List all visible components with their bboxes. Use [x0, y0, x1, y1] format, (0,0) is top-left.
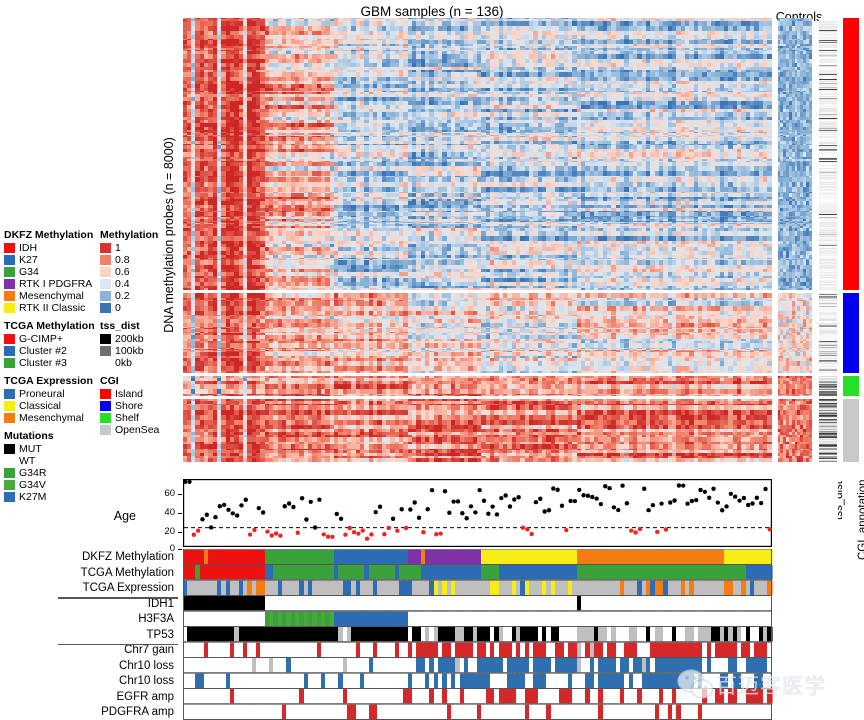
legend-label: Shore: [115, 400, 143, 412]
legend-title-tss-dist: tss_dist: [100, 320, 180, 332]
legend-column-right: Methylation10.80.60.40.20tss_dist200kb10…: [100, 229, 180, 436]
age-axis-tickmark: [178, 549, 182, 550]
age-axis-tick: 40: [155, 507, 175, 518]
methylation-heatmap-gbm[interactable]: [183, 18, 772, 462]
legend-title-cgi: CGI: [100, 375, 180, 387]
legend-item-tcga-methylation-0[interactable]: G-CIMP+: [4, 333, 96, 345]
legend-swatch-icon: [100, 346, 111, 356]
legend-label: Island: [115, 388, 143, 400]
legend-item-mutations-1[interactable]: WT: [4, 455, 96, 467]
legend-item-dkfz-methylation-2[interactable]: G34: [4, 266, 96, 278]
legend-label: MUT: [19, 443, 42, 455]
legend-item-tcga-expression-1[interactable]: Classical: [4, 400, 96, 412]
legend-label: Cluster #3: [19, 357, 67, 369]
legend-swatch-icon: [100, 425, 111, 435]
annotation-row-label-idh1: IDH1: [148, 598, 174, 610]
legend-swatch-icon: [4, 255, 15, 265]
age-scatter-plot[interactable]: [183, 479, 838, 547]
annotation-row-label-tcga-methylation: TCGA Methylation: [81, 567, 174, 579]
legend-swatch-icon: [100, 358, 111, 368]
legend-swatch-icon: [4, 334, 15, 344]
legend-label: G-CIMP+: [19, 333, 63, 345]
tss-dist-track[interactable]: [819, 18, 837, 462]
legend-label: 0.8: [115, 254, 130, 266]
watermark-text: 百迈客医学: [716, 670, 826, 700]
gbm-samples-title: GBM samples (n = 136): [361, 4, 504, 19]
annotation-row-label-h3f3a: H3F3A: [138, 613, 174, 625]
wechat-icon: [676, 668, 716, 702]
age-axis-tick: 60: [155, 488, 175, 499]
annotation-row-label-chr7-gain: Chr7 gain: [124, 644, 174, 656]
legend-label: 100kb: [115, 345, 144, 357]
legend-label: K27: [19, 254, 38, 266]
annotation-row-label-egfr-amp: EGFR amp: [116, 691, 174, 703]
legend-item-tcga-expression-0[interactable]: Proneural: [4, 388, 96, 400]
legend-title-dkfz-methylation: DKFZ Methylation: [4, 229, 96, 241]
annotation-row-label-tp53: TP53: [147, 629, 175, 641]
legend-item-cgi-2[interactable]: Shelf: [100, 412, 180, 424]
watermark: 百迈客医学: [676, 668, 826, 702]
legend-item-cgi-3[interactable]: OpenSea: [100, 424, 180, 436]
legend-item-dkfz-methylation-5[interactable]: RTK II Classic: [4, 302, 96, 314]
legend-item-methylation-scale-2[interactable]: 0.6: [100, 266, 180, 278]
legend-item-mutations-2[interactable]: G34R: [4, 467, 96, 479]
age-axis-tickmark: [178, 494, 182, 495]
bottom-row-labels: Age6040200DKFZ MethylationTCGA Methylati…: [0, 480, 178, 720]
annotation-row-label-tcga-expression: TCGA Expression: [83, 582, 174, 594]
annotation-row-label-chr10-loss: Chr10 loss: [119, 660, 174, 672]
legend-swatch-icon: [4, 456, 15, 466]
legend-label: RTK I PDGFRA: [19, 278, 92, 290]
legend-item-cgi-1[interactable]: Shore: [100, 400, 180, 412]
age-axis-tickmark: [178, 532, 182, 533]
legend-swatch-icon: [4, 279, 15, 289]
legend-item-tcga-methylation-1[interactable]: Cluster #2: [4, 345, 96, 357]
legend-label: Shelf: [115, 412, 139, 424]
legend-label: 0: [115, 302, 121, 314]
legend-label: 0kb: [115, 357, 132, 369]
legend-item-cgi-0[interactable]: Island: [100, 388, 180, 400]
legend-swatch-icon: [4, 444, 15, 454]
legend-item-tcga-methylation-2[interactable]: Cluster #3: [4, 357, 96, 369]
annotation-row-label-dkfz-methylation: DKFZ Methylation: [82, 551, 174, 563]
legend-title-mutations: Mutations: [4, 430, 96, 442]
legend-label: 0.6: [115, 266, 130, 278]
legend-item-dkfz-methylation-1[interactable]: K27: [4, 254, 96, 266]
legend-item-tss-dist-2[interactable]: 0kb: [100, 357, 180, 369]
annotation-row-label-pdgfra-amp: PDGFRA amp: [101, 706, 174, 718]
legend-swatch-icon: [4, 358, 15, 368]
legend-label: Mesenchymal: [19, 290, 84, 302]
legend-label: RTK II Classic: [19, 302, 85, 314]
legend-title-methylation-scale: Methylation: [100, 229, 180, 241]
legend-swatch-icon: [4, 401, 15, 411]
legend-label: 0.2: [115, 290, 130, 302]
legend-label: 1: [115, 242, 121, 254]
label-group-divider: [58, 597, 178, 599]
legend-swatch-icon: [4, 243, 15, 253]
legend-item-methylation-scale-1[interactable]: 0.8: [100, 254, 180, 266]
legend-swatch-icon: [4, 468, 15, 478]
legend-swatch-icon: [100, 413, 111, 423]
methylation-heatmap-controls[interactable]: [778, 18, 812, 462]
legend-swatch-icon: [100, 243, 111, 253]
legend-label: IDH: [19, 242, 37, 254]
age-axis-tickmark: [178, 513, 182, 514]
legend-label: 0.4: [115, 278, 130, 290]
label-group-divider: [58, 644, 178, 646]
legend-swatch-icon: [100, 303, 111, 313]
legend-item-mutations-0[interactable]: MUT: [4, 443, 96, 455]
legend-title-tcga-methylation: TCGA Methylation: [4, 320, 96, 332]
legend-item-tcga-expression-2[interactable]: Mesenchymal: [4, 412, 96, 424]
legend-label: Classical: [19, 400, 61, 412]
legend-swatch-icon: [100, 291, 111, 301]
legend-swatch-icon: [100, 255, 111, 265]
legend-label: Mesenchymal: [19, 412, 84, 424]
legend-swatch-icon: [4, 413, 15, 423]
legend-label: WT: [19, 455, 35, 467]
cgi-annotation-track[interactable]: [843, 18, 859, 462]
legend-label: Proneural: [19, 388, 65, 400]
legend-label: G34: [19, 266, 39, 278]
legend-item-dkfz-methylation-3[interactable]: RTK I PDGFRA: [4, 278, 96, 290]
annotation-row-label-chr10-loss: Chr10 loss: [119, 675, 174, 687]
age-axis-tick: 20: [155, 526, 175, 537]
legend-swatch-icon: [4, 303, 15, 313]
legend-label: Cluster #2: [19, 345, 67, 357]
legend-item-methylation-scale-5[interactable]: 0: [100, 302, 180, 314]
legend-item-dkfz-methylation-0[interactable]: IDH: [4, 242, 96, 254]
legend-column-left: DKFZ MethylationIDHK27G34RTK I PDGFRAMes…: [4, 229, 96, 503]
legend-label: 200kb: [115, 333, 144, 345]
legend-item-tss-dist-1[interactable]: 100kb: [100, 345, 180, 357]
legend-item-methylation-scale-0[interactable]: 1: [100, 242, 180, 254]
legend-swatch-icon: [100, 267, 111, 277]
legend-swatch-icon: [100, 279, 111, 289]
legend-swatch-icon: [4, 389, 15, 399]
legend-swatch-icon: [100, 334, 111, 344]
legend-label: OpenSea: [115, 424, 159, 436]
legend-swatch-icon: [100, 401, 111, 411]
legend-item-methylation-scale-4[interactable]: 0.2: [100, 290, 180, 302]
cgi-annotation-label: CGI_annotation: [857, 479, 864, 560]
legend-swatch-icon: [4, 346, 15, 356]
legend-item-methylation-scale-3[interactable]: 0.4: [100, 278, 180, 290]
legend-item-dkfz-methylation-4[interactable]: Mesenchymal: [4, 290, 96, 302]
legend-swatch-icon: [4, 267, 15, 277]
age-track-label: Age: [114, 510, 136, 522]
legend-title-tcga-expression: TCGA Expression: [4, 375, 96, 387]
legend-label: G34R: [19, 467, 46, 479]
legend-swatch-icon: [4, 291, 15, 301]
legend-swatch-icon: [100, 389, 111, 399]
legend-item-tss-dist-0[interactable]: 200kb: [100, 333, 180, 345]
